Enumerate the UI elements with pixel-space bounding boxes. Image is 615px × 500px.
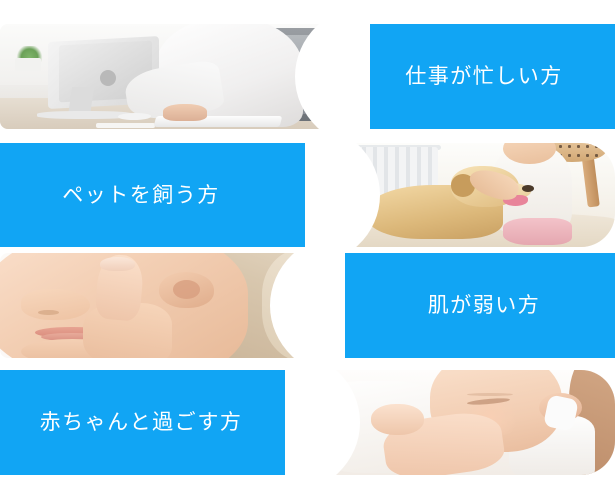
woman-hand [163, 104, 207, 121]
desk-paper [96, 123, 155, 128]
banner-card-with-baby[interactable]: 赤ちゃんと過ごす方 [0, 370, 615, 475]
photo-curve-mask [305, 143, 380, 247]
banner-photo-woman-touching-cheek [0, 253, 345, 358]
plant-pot [15, 58, 41, 72]
dog-nose [522, 185, 534, 192]
banner-label-text: 赤ちゃんと過ごす方 [40, 412, 243, 433]
banner-list: 仕事が忙しい方 [0, 0, 615, 500]
ear-inner [173, 280, 201, 299]
banner-card-sensitive-skin[interactable]: 肌が弱い方 [0, 253, 615, 358]
banner-photo-sleeping-baby [285, 370, 615, 475]
photo-curve-mask [295, 24, 370, 129]
fingernail [100, 257, 135, 271]
monitor-hinge [100, 70, 116, 86]
banner-card-busy-work[interactable]: 仕事が忙しい方 [0, 24, 615, 129]
banner-label-text: 肌が弱い方 [428, 295, 541, 316]
banner-photo-office-desk-woman [0, 24, 370, 129]
banner-label-text: 仕事が忙しい方 [405, 66, 563, 87]
photo-curve-mask [270, 253, 345, 358]
photo-curve-mask [285, 370, 360, 475]
banner-photo-dog-and-child [305, 143, 615, 247]
child-pants [503, 218, 571, 245]
woman-nose [21, 289, 90, 321]
baby-fist-left [371, 404, 424, 436]
nostril [38, 310, 59, 315]
banner-label-text: ペットを飼う方 [62, 185, 220, 206]
banner-card-pet-owner[interactable]: ペットを飼う方 [0, 143, 615, 247]
baby-fist-right [417, 425, 467, 454]
